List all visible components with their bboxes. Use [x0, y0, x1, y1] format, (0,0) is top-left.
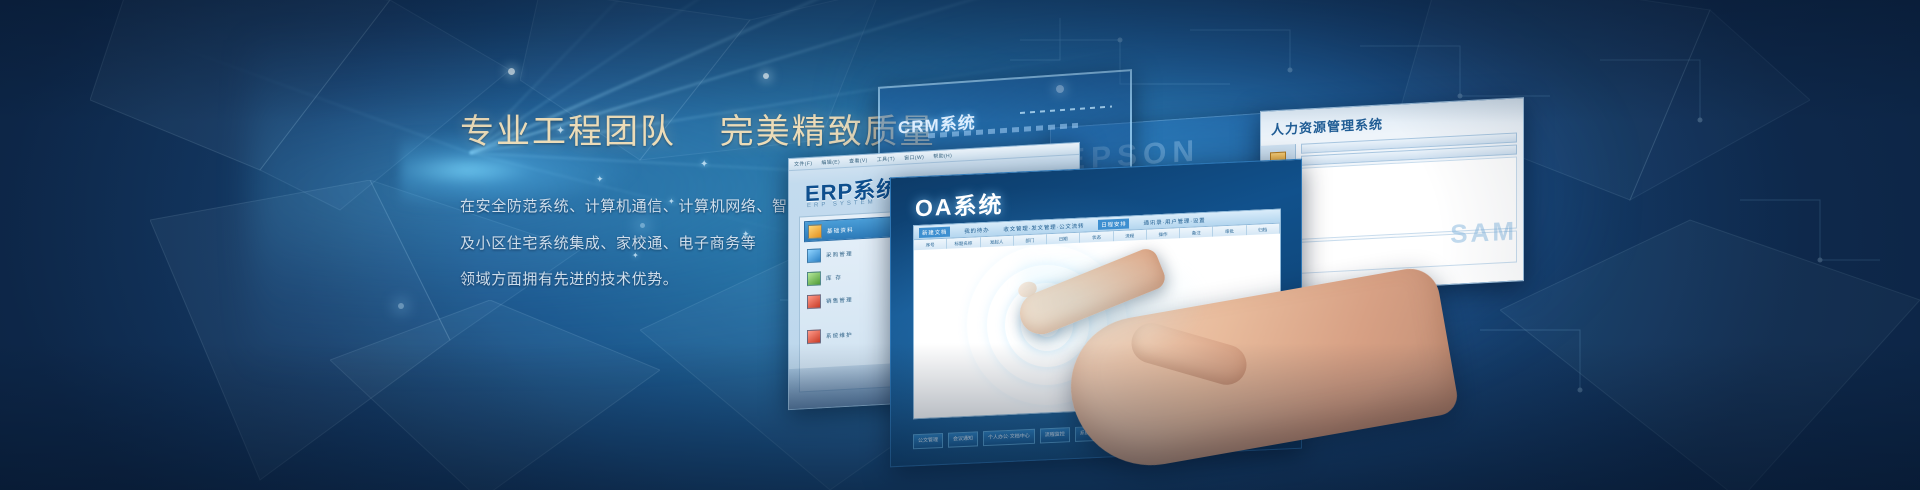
- hero-banner: ✦ ✦ ✦ ✦ ✦ ✦ ✦ 专业工程团队 完美精致质量 在安全防范系统、计算机通…: [0, 0, 1920, 490]
- vignette-overlay: [0, 0, 1920, 490]
